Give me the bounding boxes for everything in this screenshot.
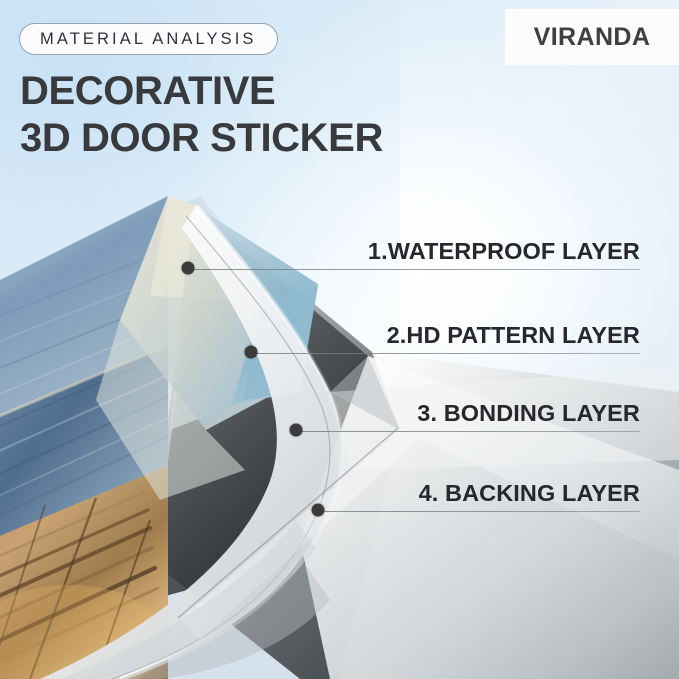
marker-dot-backing bbox=[312, 504, 325, 517]
callout-label-waterproof: 1.WATERPROOF LAYER bbox=[368, 238, 640, 269]
brand-logo-box: VIRANDA bbox=[505, 9, 679, 65]
material-analysis-badge: MATERIAL ANALYSIS bbox=[19, 23, 278, 55]
marker-dot-hd-pattern bbox=[245, 346, 258, 359]
leader-line-backing bbox=[318, 511, 640, 512]
marker-dot-waterproof bbox=[182, 262, 195, 275]
marker-dot-bonding bbox=[290, 424, 303, 437]
callout-label-backing: 4. BACKING LAYER bbox=[419, 480, 640, 511]
brand-name: VIRANDA bbox=[534, 23, 651, 52]
badge-label: MATERIAL ANALYSIS bbox=[40, 30, 257, 49]
leader-line-bonding bbox=[296, 431, 640, 432]
page-title: DECORATIVE 3D DOOR STICKER bbox=[20, 68, 490, 162]
headline-line-1: DECORATIVE bbox=[20, 68, 490, 115]
callout-label-bonding: 3. BONDING LAYER bbox=[417, 400, 640, 431]
callout-label-hd-pattern: 2.HD PATTERN LAYER bbox=[387, 322, 640, 353]
product-infographic: MATERIAL ANALYSIS DECORATIVE 3D DOOR STI… bbox=[0, 0, 679, 679]
headline-line-2: 3D DOOR STICKER bbox=[20, 115, 490, 162]
leader-line-waterproof bbox=[188, 269, 640, 270]
leader-line-hd-pattern bbox=[251, 353, 640, 354]
